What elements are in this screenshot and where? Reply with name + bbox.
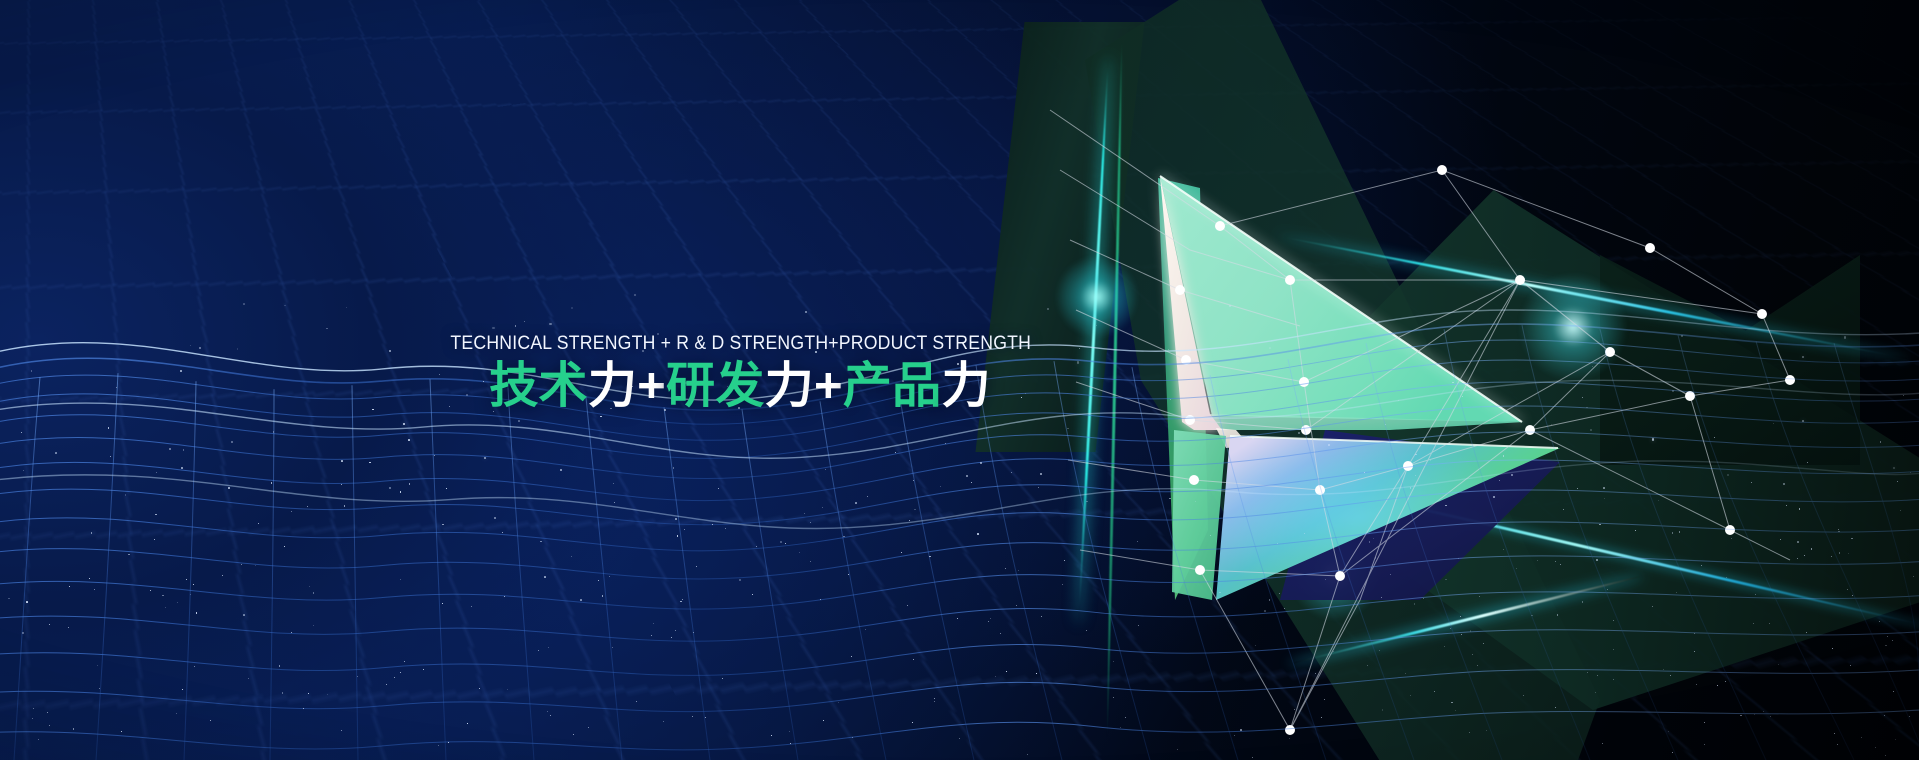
particle-dot: [1885, 645, 1886, 646]
particle-dot: [1486, 730, 1487, 731]
particle-dot: [341, 484, 342, 485]
particle-dot: [1599, 524, 1601, 526]
particle-dot: [1913, 576, 1914, 577]
particle-dot: [181, 467, 182, 468]
network-node: [1645, 243, 1655, 253]
particle-dot: [929, 556, 930, 557]
hero-eyebrow: TECHNICAL STRENGTH + R & D STRENGTH+PROD…: [450, 332, 1029, 355]
particle-dot: [1555, 707, 1556, 708]
particle-dot: [1714, 437, 1715, 438]
particle-dot: [231, 441, 233, 443]
particle-dot: [1229, 305, 1231, 307]
particle-dot: [1304, 533, 1305, 534]
particle-dot: [1727, 474, 1729, 476]
particle-dot: [1837, 744, 1838, 745]
particle-dot: [1852, 595, 1853, 596]
particle-dot: [799, 552, 800, 553]
particle-dot: [196, 612, 198, 614]
particle-dot: [1595, 692, 1596, 693]
particle-dot: [1652, 438, 1654, 440]
particle-dot: [258, 523, 259, 524]
particle-dot: [341, 460, 343, 462]
particle-dot: [1511, 474, 1513, 476]
particle-dot: [1477, 665, 1478, 666]
particle-dot: [1077, 361, 1079, 363]
particle-dot: [1590, 429, 1592, 431]
particle-dot: [1423, 598, 1424, 599]
particle-dot: [1672, 532, 1673, 533]
particle-dot: [327, 694, 328, 695]
particle-dot: [1470, 630, 1472, 632]
particle-dot: [1503, 455, 1505, 457]
particle-dot: [1315, 673, 1316, 674]
particle-dot: [959, 738, 960, 739]
particle-dot: [838, 702, 839, 703]
particle-dot: [186, 579, 187, 580]
particle-dot: [1451, 702, 1452, 703]
particle-dot: [154, 539, 155, 540]
headline-segment-6: 产品: [843, 359, 942, 413]
particle-dot: [547, 711, 548, 712]
particle-dot: [1177, 749, 1178, 750]
particle-dot: [718, 488, 719, 489]
particle-dot: [467, 723, 468, 724]
particle-dot: [580, 599, 582, 601]
particle-dot: [1234, 735, 1235, 736]
particle-dot: [1663, 669, 1664, 670]
particle-dot: [1169, 498, 1171, 500]
particle-dot: [1479, 596, 1480, 597]
particle-dot: [907, 605, 908, 606]
headline-segment-0: 技术: [489, 359, 588, 413]
particle-dot: [1210, 535, 1211, 536]
particle-dot: [1040, 473, 1042, 475]
particle-dot: [1903, 395, 1904, 396]
particle-dot: [1472, 654, 1473, 655]
particle-dot: [1415, 475, 1416, 476]
particle-dot: [1195, 501, 1196, 502]
hero-banner: TECHNICAL STRENGTH + R & D STRENGTH+PROD…: [0, 0, 1919, 760]
particle-dot: [194, 666, 195, 667]
particle-dot: [1469, 732, 1470, 733]
particle-dot: [182, 689, 183, 690]
particle-dot: [705, 717, 706, 718]
particle-dot: [913, 659, 914, 660]
particle-dot: [1364, 472, 1365, 473]
particle-dot: [1503, 549, 1504, 550]
particle-dot: [540, 541, 541, 542]
particle-dot: [313, 592, 314, 593]
particle-dot: [222, 575, 223, 576]
particle-dot: [515, 325, 517, 327]
particle-dot: [1079, 348, 1080, 349]
particle-dot: [438, 745, 439, 746]
particle-dot: [790, 743, 791, 744]
particle-dot: [1670, 675, 1671, 676]
particle-dot: [150, 590, 151, 591]
particle-dot: [176, 713, 177, 714]
particle-dot: [394, 677, 395, 678]
network-node: [1285, 275, 1295, 285]
particle-dot: [752, 594, 753, 595]
particle-dot: [326, 328, 327, 329]
particle-dot: [1333, 651, 1334, 652]
particle-dot: [909, 520, 910, 521]
particle-dot: [865, 629, 866, 630]
particle-dot: [507, 689, 508, 690]
particle-dot: [1592, 366, 1593, 367]
particle-dot: [1804, 555, 1805, 556]
particle-dot: [243, 614, 245, 616]
particle-dot: [403, 423, 405, 425]
particle-dot: [1884, 715, 1885, 716]
particle-dot: [957, 618, 958, 619]
particle-dot: [1753, 623, 1755, 625]
particle-dot: [442, 524, 443, 525]
particle-dot: [739, 579, 741, 581]
particle-dot: [609, 576, 611, 578]
particle-dot: [549, 323, 551, 325]
particle-dot: [55, 452, 57, 454]
particle-dot: [912, 722, 913, 723]
particle-dot: [1113, 661, 1114, 662]
particle-dot: [1018, 570, 1019, 571]
particle-dot: [165, 607, 166, 608]
particle-dot: [1807, 462, 1808, 463]
particle-dot: [843, 536, 844, 537]
particle-dot: [1405, 673, 1406, 674]
particle-dot: [1375, 557, 1377, 559]
particle-dot: [945, 443, 946, 444]
particle-dot: [1811, 548, 1812, 549]
particle-dot: [1005, 568, 1006, 569]
particle-dot: [940, 486, 941, 487]
particle-dot: [1138, 625, 1139, 626]
headline-segment-2: +: [637, 359, 666, 413]
particle-dot: [966, 475, 968, 477]
particle-dot: [243, 303, 245, 305]
particle-dot: [1725, 681, 1726, 682]
particle-dot: [1668, 731, 1669, 732]
particle-dot: [1850, 665, 1851, 666]
particle-dot: [1325, 579, 1326, 580]
particle-dot: [273, 431, 275, 433]
particle-dot: [8, 598, 9, 599]
particle-dot: [913, 480, 914, 481]
particle-dot: [1861, 737, 1862, 738]
particle-dot: [1603, 487, 1605, 489]
particle-dot: [1806, 632, 1807, 633]
particle-dot: [1694, 651, 1695, 652]
particle-dot: [1838, 531, 1840, 533]
particle-dot: [934, 701, 935, 702]
particle-dot: [1041, 616, 1042, 617]
particle-dot: [1717, 685, 1718, 686]
particle-dot: [573, 734, 574, 735]
particle-dot: [423, 669, 424, 670]
particle-dot: [725, 528, 726, 529]
particle-dot: [492, 327, 495, 330]
particle-dot: [1038, 487, 1039, 488]
particle-dot: [1255, 645, 1256, 646]
particle-dot: [180, 370, 182, 372]
particle-dot: [680, 601, 682, 603]
particle-dot: [1731, 538, 1732, 539]
particle-dot: [183, 449, 184, 450]
particle-dot: [1596, 559, 1598, 561]
particle-dot: [1415, 454, 1417, 456]
particle-dot: [1577, 488, 1578, 489]
headline-segment-4: 力: [765, 359, 814, 413]
particle-dot: [1324, 699, 1325, 700]
particle-dot: [1701, 565, 1702, 566]
particle-dot: [612, 647, 613, 648]
particle-dot: [1445, 505, 1447, 507]
particle-dot: [825, 469, 826, 470]
particle-dot: [1582, 601, 1584, 603]
particle-dot: [696, 566, 697, 567]
particle-dot: [155, 514, 156, 515]
particle-dot: [1269, 347, 1271, 349]
particle-dot: [1516, 568, 1517, 569]
particle-dot: [1289, 738, 1290, 739]
particle-dot: [1277, 543, 1278, 544]
particle-dot: [1460, 616, 1461, 617]
particle-dot: [771, 735, 772, 736]
particle-dot: [89, 578, 90, 579]
particle-dot: [684, 529, 685, 530]
particle-dot: [1398, 400, 1400, 402]
particle-dot: [1704, 744, 1705, 745]
particle-dot: [1880, 441, 1881, 442]
particle-dot: [494, 517, 495, 518]
particle-dot: [634, 294, 636, 296]
particle-dot: [571, 307, 573, 309]
particle-dot: [1531, 615, 1533, 617]
hero-copy: TECHNICAL STRENGTH + R & D STRENGTH+PROD…: [420, 332, 1060, 414]
particle-dot: [1027, 754, 1028, 755]
particle-dot: [1016, 605, 1017, 606]
particle-dot: [1434, 691, 1435, 692]
particle-dot: [1604, 498, 1605, 499]
particle-dot: [1382, 709, 1383, 710]
particle-dot: [1483, 643, 1484, 644]
particle-dot: [1555, 561, 1556, 562]
particle-dot: [692, 716, 693, 717]
particle-dot: [1523, 695, 1524, 696]
particle-dot: [1770, 716, 1771, 717]
particle-dot: [867, 496, 868, 497]
particle-dot: [600, 416, 601, 417]
particle-dot: [108, 427, 110, 429]
particle-dot: [1786, 505, 1787, 506]
particle-dot: [1763, 711, 1764, 712]
particle-dot: [279, 665, 280, 666]
particle-dot: [677, 535, 679, 537]
particle-dot: [810, 561, 811, 562]
particle-dot: [1696, 684, 1697, 685]
particle-dot: [651, 635, 652, 636]
network-node: [1215, 221, 1225, 231]
particle-dot: [271, 482, 272, 483]
particle-dot: [1410, 695, 1411, 696]
particle-dot: [1000, 633, 1001, 634]
particle-dot: [663, 721, 664, 722]
particle-dot: [484, 457, 486, 459]
particle-dot: [1086, 630, 1088, 632]
particle-dot: [1607, 589, 1608, 590]
particle-dot: [1381, 597, 1382, 598]
particle-dot: [804, 513, 805, 514]
particle-dot: [1726, 577, 1727, 578]
particle-dot: [653, 623, 654, 624]
particle-dot: [110, 456, 111, 457]
particle-dot: [1769, 623, 1770, 624]
particle-dot: [1875, 747, 1876, 748]
particle-dot: [1755, 594, 1756, 595]
particle-dot: [1113, 697, 1114, 698]
particle-dot: [548, 647, 549, 648]
particle-dot: [169, 448, 171, 450]
headline-segment-7: 力: [941, 359, 990, 413]
particle-dot: [588, 727, 589, 728]
particle-dot: [284, 305, 286, 307]
particle-dot: [389, 350, 391, 352]
particle-dot: [1367, 665, 1368, 666]
headline-segment-5: +: [814, 359, 843, 413]
particle-dot: [504, 596, 505, 597]
particle-dot: [357, 676, 358, 677]
particle-dot: [1385, 424, 1386, 425]
particle-dot: [544, 576, 546, 578]
particle-dot: [94, 589, 95, 590]
headline-segment-1: 力: [588, 359, 637, 413]
particle-dot: [1802, 356, 1804, 358]
particle-dot: [1679, 531, 1680, 532]
particle-dot: [1252, 757, 1253, 758]
particle-dot: [291, 511, 292, 512]
particle-dot: [1067, 428, 1068, 429]
particle-dot: [21, 432, 22, 433]
particle-dot: [1064, 560, 1065, 561]
particle-dot: [1369, 541, 1371, 543]
particle-dot: [1831, 556, 1832, 557]
particle-dot: [971, 482, 972, 483]
particle-dot: [1450, 628, 1451, 629]
particle-dot: [404, 661, 405, 662]
particle-dot: [1096, 325, 1097, 326]
particle-dot: [1773, 423, 1774, 424]
particle-dot: [1537, 560, 1538, 561]
particle-dot: [810, 522, 811, 523]
particle-dot: [1897, 481, 1898, 482]
particle-dot: [756, 546, 757, 547]
particle-dot: [446, 488, 447, 489]
particle-dot: [613, 483, 614, 484]
particle-dot: [1676, 592, 1677, 593]
particle-dot: [400, 672, 401, 673]
particle-dot: [851, 656, 852, 657]
particle-dot: [602, 595, 603, 596]
particle-dot: [977, 533, 979, 535]
particle-dot: [22, 632, 23, 633]
particle-dot: [1062, 584, 1063, 585]
particle-dot: [673, 467, 674, 468]
particle-dot: [1635, 530, 1636, 531]
particle-dot: [1893, 467, 1895, 469]
particle-dot: [1219, 592, 1221, 594]
particle-dot: [1895, 739, 1896, 740]
particle-dot: [1036, 673, 1037, 674]
particle-dot: [780, 541, 782, 543]
particle-dot: [97, 665, 98, 666]
particle-dot: [1778, 664, 1779, 665]
particle-dot: [241, 564, 242, 565]
particle-dot: [1851, 538, 1852, 539]
particle-dot: [1458, 558, 1459, 559]
particle-dot: [1264, 610, 1266, 612]
particle-dot: [400, 579, 401, 580]
particle-dot: [1844, 336, 1846, 338]
particle-dot: [1390, 574, 1391, 575]
particle-dot: [1613, 649, 1614, 650]
particle-dot: [309, 586, 310, 587]
particle-dot: [502, 532, 503, 533]
particle-dot: [1797, 541, 1799, 543]
particle-dot: [389, 487, 391, 489]
particle-dot: [408, 439, 410, 441]
network-node: [1515, 275, 1525, 285]
particle-dot: [156, 472, 157, 473]
particle-dot: [1740, 715, 1741, 716]
particle-dot: [1900, 510, 1901, 511]
particle-dot: [341, 730, 342, 731]
particle-dot: [1168, 349, 1169, 350]
particle-dot: [1694, 633, 1695, 634]
particle-dot: [1879, 621, 1880, 622]
particle-dot: [1294, 709, 1295, 710]
particle-dot: [372, 409, 373, 410]
particle-dot: [26, 601, 28, 603]
particle-dot: [73, 728, 74, 729]
particle-dot: [190, 594, 191, 595]
particle-dot: [1493, 496, 1495, 498]
particle-dot: [1847, 589, 1848, 590]
particle-dot: [91, 532, 92, 533]
particle-dot: [199, 347, 201, 349]
particle-dot: [1832, 648, 1833, 649]
particle-dot: [479, 688, 480, 689]
particle-dot: [128, 554, 129, 555]
particle-dot: [1430, 460, 1431, 461]
particle-dot: [1780, 539, 1781, 540]
particle-dot: [303, 708, 304, 709]
particle-dot: [1597, 675, 1598, 676]
particle-dot: [32, 718, 33, 719]
particle-dot: [1120, 727, 1121, 728]
particle-dot: [1086, 501, 1088, 503]
particle-dot: [1379, 650, 1380, 651]
particle-dot: [722, 678, 723, 679]
particle-dot: [636, 701, 637, 702]
particle-dot: [1452, 382, 1453, 383]
particle-dot: [1240, 729, 1241, 730]
particle-dot: [248, 678, 249, 679]
particle-dot: [282, 692, 283, 693]
particle-dot: [1672, 390, 1674, 392]
particle-dot: [1602, 743, 1603, 744]
particle-dot: [1754, 714, 1755, 715]
